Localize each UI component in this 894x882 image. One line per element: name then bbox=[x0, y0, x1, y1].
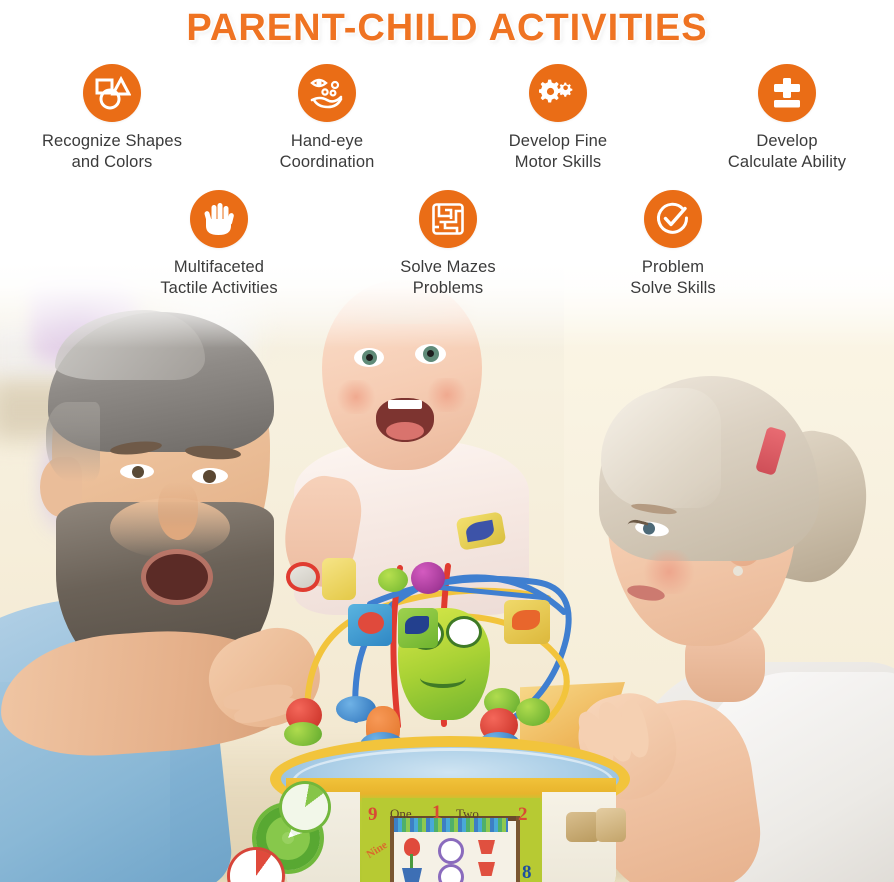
feature-hand-eye-coordination[interactable]: Hand-eye Coordination bbox=[232, 64, 422, 173]
lifestyle-photo: 9 One 1 Two 2 8 Nine bbox=[0, 262, 894, 882]
feature-label: Problem Solve Skills bbox=[630, 257, 716, 299]
baby-teeth bbox=[388, 400, 422, 409]
toy-number-nine: 9 bbox=[368, 804, 378, 826]
feature-label: Recognize Shapes and Colors bbox=[42, 131, 182, 173]
feature-label: Develop Fine Motor Skills bbox=[509, 131, 607, 173]
feature-develop-fine-motor-skills[interactable]: Develop Fine Motor Skills bbox=[463, 64, 653, 173]
feature-label-line1: Hand-eye bbox=[280, 131, 375, 152]
flower-pot-art bbox=[402, 868, 422, 882]
father-eye-right bbox=[192, 468, 228, 484]
hand-eye-icon-badge bbox=[298, 64, 356, 122]
baby-eye-left bbox=[354, 348, 384, 367]
father-mouth bbox=[146, 554, 208, 600]
feature-label-line1: Develop Fine bbox=[509, 131, 607, 152]
shapes-icon-badge bbox=[83, 64, 141, 122]
feature-problem-solve-skills[interactable]: Problem Solve Skills bbox=[578, 190, 768, 299]
feature-develop-calculate-ability[interactable]: Develop Calculate Ability bbox=[692, 64, 882, 173]
ring-bead bbox=[286, 562, 320, 592]
toy-roller-block[interactable] bbox=[566, 812, 600, 842]
bead-green bbox=[516, 698, 550, 726]
tulip-stem-art bbox=[410, 854, 413, 870]
fish-art bbox=[405, 616, 429, 634]
feature-label-line2: and Colors bbox=[42, 152, 182, 173]
toy-word-two: Two bbox=[456, 806, 479, 822]
baby-cheek-left bbox=[334, 380, 378, 414]
page-title-container: PARENT-CHILD ACTIVITIES bbox=[0, 4, 894, 52]
bead-purple bbox=[411, 562, 445, 594]
girl-hair-front bbox=[601, 388, 721, 508]
hand-eye-icon bbox=[308, 74, 346, 112]
feature-label-line2: Coordination bbox=[280, 152, 375, 173]
feature-label-line1: Problem bbox=[630, 257, 716, 278]
baby-tongue bbox=[386, 422, 424, 440]
toy-gear-green-small[interactable] bbox=[282, 784, 328, 830]
feature-label-line1: Recognize Shapes bbox=[42, 131, 182, 152]
feature-label-line2: Calculate Ability bbox=[728, 152, 846, 173]
gears-icon bbox=[539, 74, 577, 112]
feature-label-line2: Motor Skills bbox=[509, 152, 607, 173]
palm-icon bbox=[203, 202, 235, 236]
baby-eye-right bbox=[415, 344, 446, 364]
clownfish-art bbox=[512, 610, 540, 630]
toy-number-two: 2 bbox=[518, 804, 528, 826]
girl-earring bbox=[733, 566, 743, 576]
feature-label: Hand-eye Coordination bbox=[280, 131, 375, 173]
clock-art bbox=[438, 838, 464, 864]
bead-green bbox=[378, 568, 408, 592]
feature-row-2: Multifaceted Tactile Activities bbox=[0, 190, 894, 300]
feature-row-1: Recognize Shapes and Colors bbox=[0, 64, 894, 190]
father-temple bbox=[46, 402, 100, 482]
plus-minus-icon-badge bbox=[758, 64, 816, 122]
plus-minus-icon bbox=[770, 76, 804, 110]
feature-label-line2: Tactile Activities bbox=[160, 278, 277, 299]
feature-label-line1: Solve Mazes bbox=[400, 257, 496, 278]
maze-icon-badge bbox=[419, 190, 477, 248]
toy-number-one: 1 bbox=[432, 802, 442, 824]
activity-cube-toy[interactable]: 9 One 1 Two 2 8 Nine bbox=[248, 520, 648, 882]
promo-page: PARENT-CHILD ACTIVITIES Recognize Shapes… bbox=[0, 0, 894, 882]
feature-list: Recognize Shapes and Colors bbox=[0, 64, 894, 300]
shapes-icon bbox=[93, 74, 131, 112]
feature-label-line1: Multifaceted bbox=[160, 257, 277, 278]
feature-label: Multifaceted Tactile Activities bbox=[160, 257, 277, 299]
feature-label: Solve Mazes Problems bbox=[400, 257, 496, 299]
giraffe-tile bbox=[322, 558, 356, 600]
feature-multifaceted-tactile-activities[interactable]: Multifaceted Tactile Activities bbox=[124, 190, 314, 299]
palm-icon-badge bbox=[190, 190, 248, 248]
father-eye-left bbox=[120, 464, 154, 479]
bead-green bbox=[284, 722, 322, 746]
frog-eye-right bbox=[446, 616, 482, 648]
feature-solve-mazes-problems[interactable]: Solve Mazes Problems bbox=[353, 190, 543, 299]
baby-cheek-right bbox=[424, 378, 470, 412]
feature-label-line1: Develop bbox=[728, 131, 846, 152]
toy-roller-block[interactable] bbox=[596, 808, 626, 842]
father-hair-highlight bbox=[55, 310, 205, 380]
check-circle-icon bbox=[655, 201, 691, 237]
feature-label: Develop Calculate Ability bbox=[728, 131, 846, 173]
check-circle-icon-badge bbox=[644, 190, 702, 248]
page-title: PARENT-CHILD ACTIVITIES bbox=[186, 7, 707, 50]
frog-mouth bbox=[420, 668, 466, 688]
toy-word-one: One bbox=[390, 806, 412, 822]
toy-number-eight: 8 bbox=[522, 862, 532, 882]
feature-recognize-shapes-and-colors[interactable]: Recognize Shapes and Colors bbox=[17, 64, 207, 173]
crab-art bbox=[358, 612, 384, 634]
gears-icon-badge bbox=[529, 64, 587, 122]
father-nose bbox=[158, 482, 198, 540]
feature-label-line2: Problems bbox=[400, 278, 496, 299]
feature-label-line2: Solve Skills bbox=[630, 278, 716, 299]
maze-icon bbox=[431, 202, 465, 236]
